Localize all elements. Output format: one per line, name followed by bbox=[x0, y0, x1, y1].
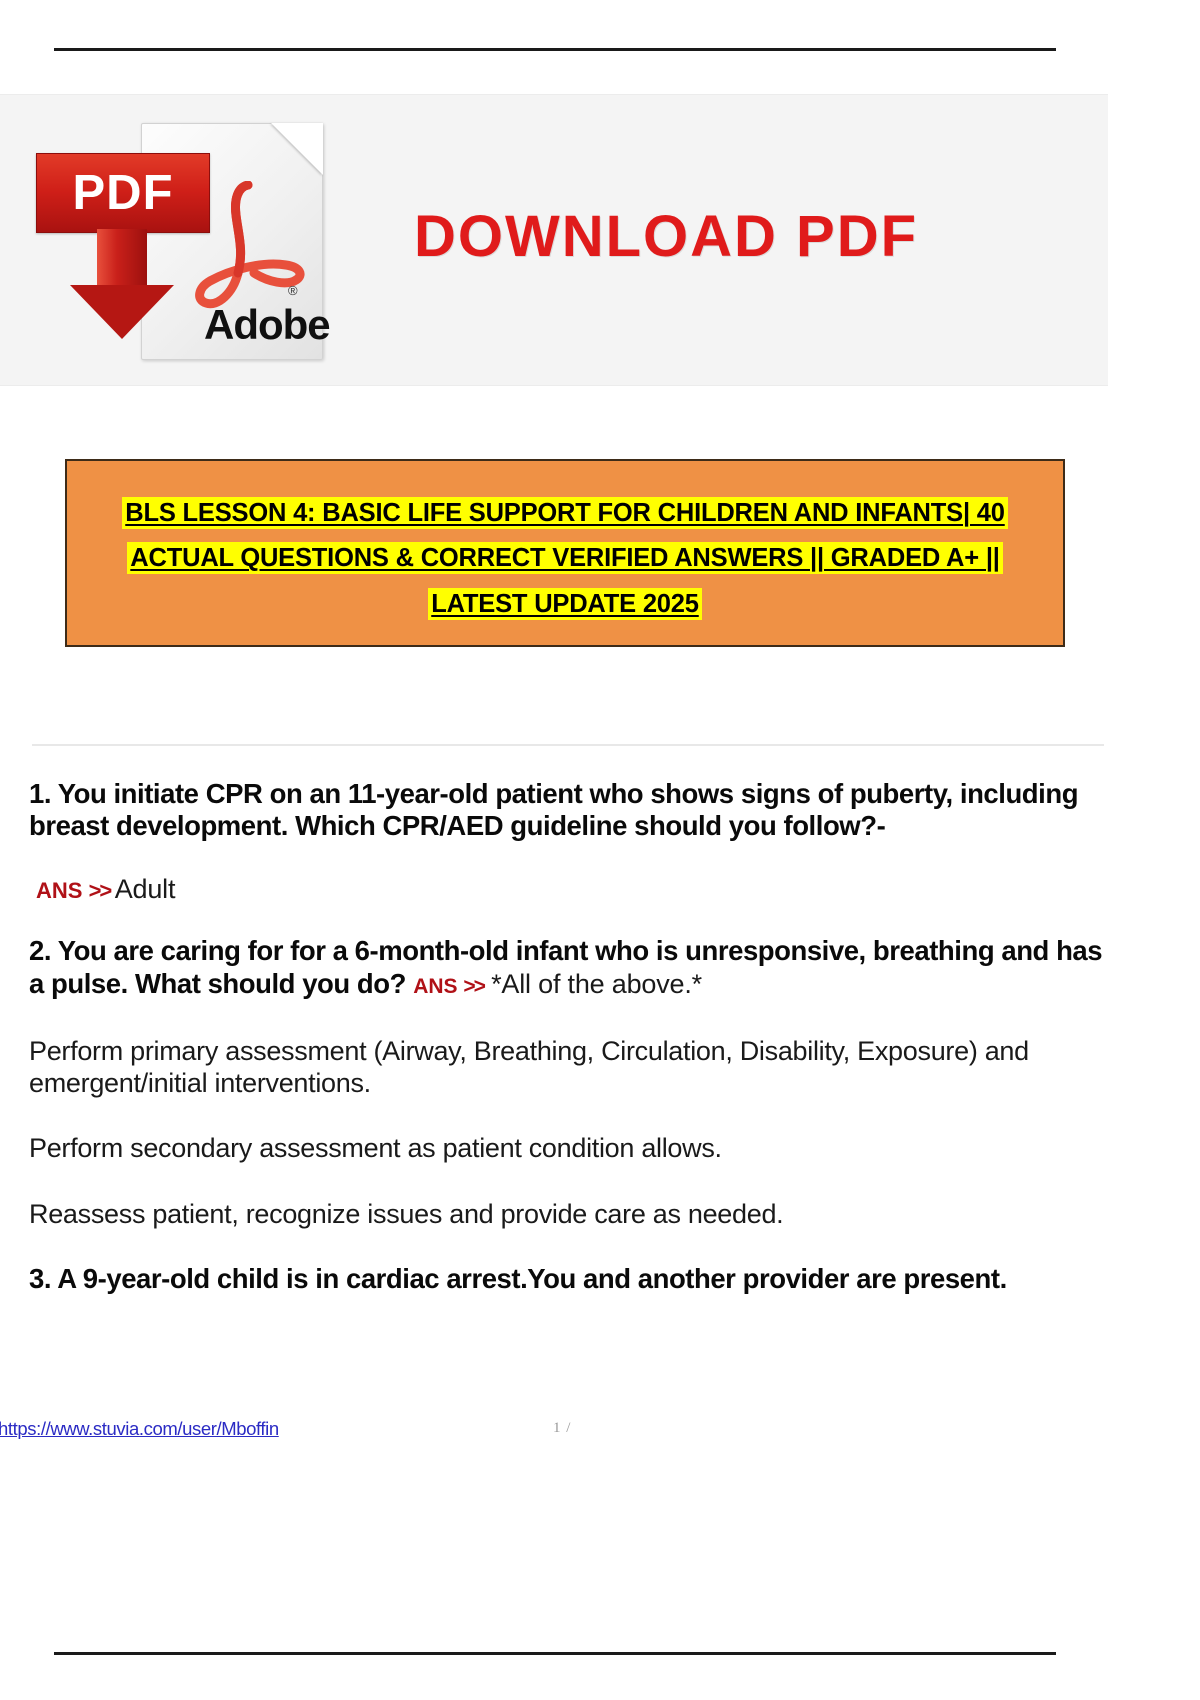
question-3: 3. A 9-year-old child is in cardiac arre… bbox=[29, 1263, 1105, 1295]
footer-page-number: 1 / bbox=[553, 1420, 571, 1437]
title-line-2: ACTUAL QUESTIONS & CORRECT VERIFIED ANSW… bbox=[81, 539, 1049, 577]
pdf-label-tab: PDF bbox=[36, 153, 210, 233]
answer-tag-2: ANS >> bbox=[413, 975, 484, 998]
answer-chevron-2: >> bbox=[463, 975, 484, 998]
answer-2-body-line-3: Reassess patient, recognize issues and p… bbox=[29, 1198, 1105, 1230]
question-1-text: You initiate CPR on an 11-year-old patie… bbox=[29, 778, 1078, 841]
question-2-number: 2. bbox=[29, 935, 51, 966]
download-pdf-headline: DOWNLOAD PDF bbox=[414, 203, 918, 270]
adobe-pdf-download-icon: Adobe ® PDF bbox=[36, 123, 386, 358]
page-fold-corner bbox=[271, 123, 323, 175]
content-divider bbox=[32, 744, 1104, 746]
question-3-number: 3. bbox=[29, 1263, 51, 1294]
adobe-wordmark: Adobe bbox=[204, 301, 330, 349]
title-line-3-text: LATEST UPDATE 2025 bbox=[429, 589, 701, 619]
title-line-1-text: BLS LESSON 4: BASIC LIFE SUPPORT FOR CHI… bbox=[123, 498, 1006, 528]
answer-2-value: *All of the above.* bbox=[491, 969, 702, 999]
question-list: 1. You initiate CPR on an 11-year-old pa… bbox=[29, 778, 1105, 1326]
bottom-horizontal-rule bbox=[54, 1652, 1056, 1655]
footer-profile-link[interactable]: https://www.stuvia.com/user/Mboffin bbox=[0, 1418, 279, 1440]
question-1-number: 1. bbox=[29, 778, 51, 809]
answer-tag-1-label: ANS bbox=[36, 878, 82, 903]
answer-tag-2-label: ANS bbox=[413, 975, 457, 998]
title-line-1: BLS LESSON 4: BASIC LIFE SUPPORT FOR CHI… bbox=[81, 494, 1049, 532]
answer-2-body-line-1: Perform primary assessment (Airway, Brea… bbox=[29, 1035, 1105, 1100]
question-2: 2. You are caring for for a 6-month-old … bbox=[29, 935, 1105, 1000]
title-line-2-text: ACTUAL QUESTIONS & CORRECT VERIFIED ANSW… bbox=[128, 543, 1001, 573]
arrow-head bbox=[70, 285, 174, 339]
download-arrow-icon bbox=[70, 229, 174, 339]
answer-tag-1: ANS >> bbox=[36, 878, 110, 903]
top-horizontal-rule bbox=[54, 48, 1056, 51]
question-3-text: A 9-year-old child is in cardiac arrest.… bbox=[57, 1263, 1007, 1294]
title-line-3: LATEST UPDATE 2025 bbox=[81, 585, 1049, 623]
answer-2-body-line-2: Perform secondary assessment as patient … bbox=[29, 1132, 1105, 1164]
download-pdf-banner[interactable]: Adobe ® PDF DOWNLOAD PDF bbox=[0, 94, 1108, 386]
pdf-tab-text: PDF bbox=[73, 169, 174, 218]
answer-1: ANS >> Adult bbox=[29, 873, 1105, 905]
question-1: 1. You initiate CPR on an 11-year-old pa… bbox=[29, 778, 1105, 843]
arrow-stem bbox=[97, 229, 147, 287]
answer-chevron-1: >> bbox=[89, 878, 111, 903]
document-title-box: BLS LESSON 4: BASIC LIFE SUPPORT FOR CHI… bbox=[65, 459, 1065, 647]
answer-1-value: Adult bbox=[115, 874, 176, 904]
registered-trademark-icon: ® bbox=[288, 283, 298, 298]
